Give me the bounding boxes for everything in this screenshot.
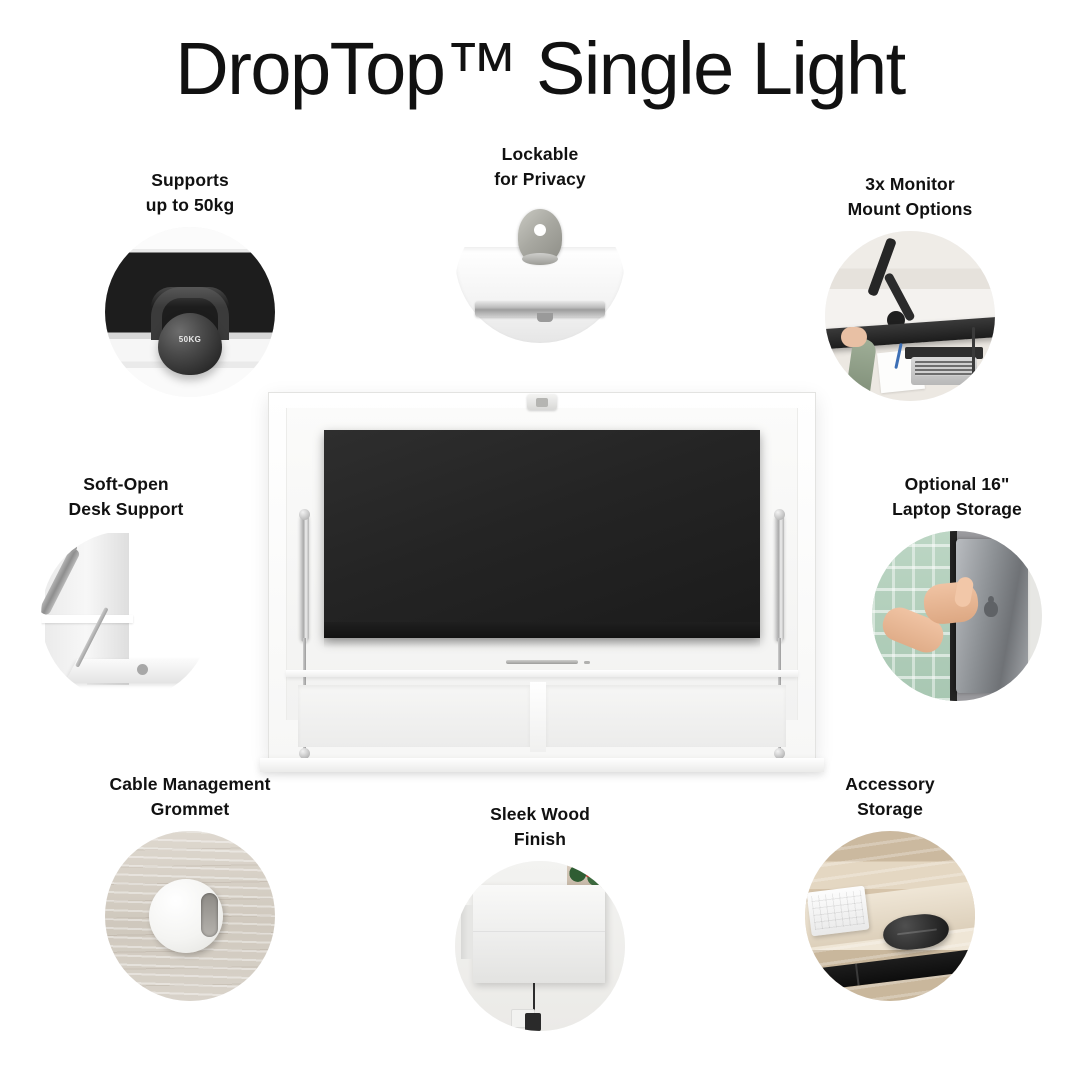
feature-label-line1: Soft-Open xyxy=(83,474,168,494)
power-plug xyxy=(525,1013,541,1031)
feature-monitor-mount-options: 3x Monitor Mount Options xyxy=(780,172,1040,401)
feature-cable-management-grommet: Cable Management Grommet xyxy=(60,772,320,1001)
key-lock-icon xyxy=(455,201,625,371)
closed-cabinet-front xyxy=(473,885,605,983)
feature-label-line1: Sleek Wood xyxy=(490,804,590,824)
kettlebell-body xyxy=(158,313,222,375)
feature-label-line2: Desk Support xyxy=(69,499,184,519)
lock-barrel xyxy=(522,253,558,265)
laptop-icon xyxy=(872,531,1042,701)
cabinet-lock xyxy=(527,394,557,410)
cabinet-shelf-edge xyxy=(41,615,133,623)
feature-label: Optional 16" Laptop Storage xyxy=(827,472,1080,522)
cable xyxy=(972,327,975,385)
feature-label-line2: Laptop Storage xyxy=(892,499,1022,519)
kettlebell-icon: 50KG xyxy=(105,227,275,397)
feature-lockable-privacy: Lockable for Privacy xyxy=(410,142,670,371)
shelf-top-surface xyxy=(286,670,798,677)
feature-label-line1: Accessory xyxy=(845,774,934,794)
feature-label-line2: Mount Options xyxy=(848,199,973,219)
feature-label-line1: Supports xyxy=(151,170,229,190)
feature-label: Lockable for Privacy xyxy=(410,142,670,192)
page-title: DropTop™ Single Light xyxy=(0,30,1080,108)
feature-label: Cable Management Grommet xyxy=(60,772,320,822)
display-shadow xyxy=(324,638,760,648)
feature-accessory-storage: Accessory Storage xyxy=(760,772,1020,1001)
person-hand xyxy=(841,327,867,347)
feature-label-line1: 3x Monitor xyxy=(865,174,954,194)
feature-label-line2: Grommet xyxy=(151,799,230,819)
cable-vent-slot xyxy=(506,660,578,664)
storage-cubby-right xyxy=(546,685,786,747)
gas-strut-icon xyxy=(41,531,211,701)
laptop-keyboard xyxy=(911,357,977,385)
storage-cubby-left xyxy=(298,685,530,747)
feature-label-line1: Lockable xyxy=(502,144,579,164)
kettlebell-weight-badge: 50KG xyxy=(179,335,202,344)
gas-strut-right xyxy=(775,514,784,642)
infographic-canvas: DropTop™ Single Light Supports up to 50k… xyxy=(0,0,1080,1080)
feature-label-line2: Storage xyxy=(857,799,923,819)
feature-label: 3x Monitor Mount Options xyxy=(780,172,1040,222)
strut-cap-top-left xyxy=(299,509,310,520)
feature-label-line1: Cable Management xyxy=(109,774,270,794)
keyboard-mouse-icon xyxy=(805,831,975,1001)
gas-strut-left xyxy=(300,514,309,642)
feature-label-line2: up to 50kg xyxy=(146,195,235,215)
strut-pivot-top xyxy=(68,543,77,552)
lock-latch xyxy=(475,301,605,317)
grommet-icon xyxy=(105,831,275,1001)
mounted-display xyxy=(324,430,760,638)
grommet-cable-slot xyxy=(201,893,218,937)
feature-label-line1: Optional 16" xyxy=(905,474,1010,494)
product-image xyxy=(268,392,816,760)
cabinet-side-edge xyxy=(461,905,473,959)
strut-cap-top-right xyxy=(774,509,785,520)
feature-supports-50kg: Supports up to 50kg 50KG xyxy=(60,168,320,397)
keyboard xyxy=(807,885,870,936)
feature-label-line2: for Privacy xyxy=(494,169,586,189)
cubby-divider xyxy=(530,682,546,752)
cabinet-base-ledge xyxy=(260,758,824,772)
feature-label: Soft-Open Desk Support xyxy=(0,472,256,522)
cabinet-seam xyxy=(473,931,605,932)
feature-label: Accessory Storage xyxy=(760,772,1020,822)
monitor-arm-icon xyxy=(825,231,995,401)
cabinet-closed-icon xyxy=(455,861,625,1031)
feature-sleek-wood-finish: Sleek Wood Finish xyxy=(410,802,670,1031)
apple-logo-icon xyxy=(984,601,998,617)
feature-soft-open-desk-support: Soft-Open Desk Support xyxy=(0,472,256,701)
feature-label: Sleek Wood Finish xyxy=(410,802,670,852)
feature-label-line2: Finish xyxy=(514,829,566,849)
feature-optional-laptop-storage: Optional 16" Laptop Storage xyxy=(827,472,1080,701)
feature-label: Supports up to 50kg xyxy=(60,168,320,218)
strut-pivot-bottom xyxy=(137,664,148,675)
